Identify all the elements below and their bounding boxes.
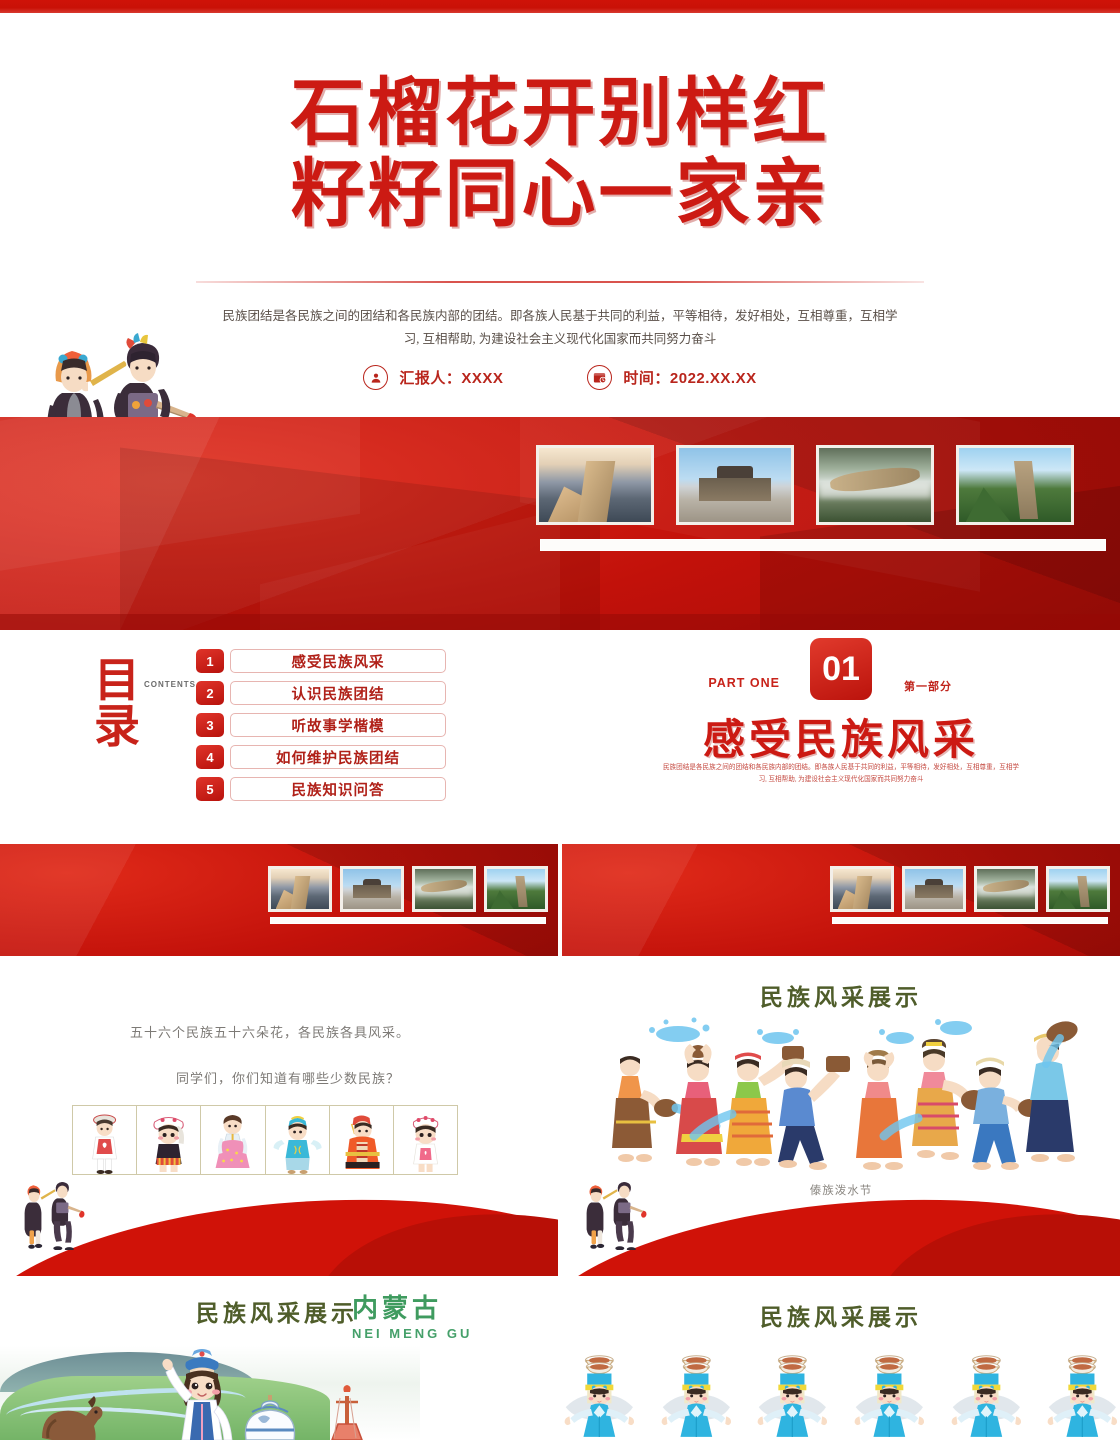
thumb-great-wall-green[interactable] — [956, 445, 1074, 525]
toc-item-3[interactable]: 3 听故事学楷模 — [196, 713, 446, 737]
toc-number: 3 — [196, 713, 224, 737]
ethnic-intro-line2: 同学们，你们知道有哪些少数民族？ — [176, 1068, 400, 1087]
doll-cell-2[interactable] — [137, 1106, 201, 1174]
presenter-label: 汇报人：XXXX — [399, 367, 503, 388]
toc-number: 2 — [196, 681, 224, 705]
dancer-6 — [1045, 1348, 1120, 1440]
cover-title-line2: 籽籽同心一家亲 — [0, 156, 1120, 233]
thumb-great-wall-mist[interactable] — [816, 445, 934, 525]
slide-row-4: 民族风采展示 — [0, 1280, 1120, 1440]
dance-heading: 民族风采展示 — [562, 1298, 1120, 1332]
part-cn-label: 第一部分 — [904, 678, 1024, 694]
doll-cell-5[interactable] — [330, 1106, 394, 1174]
thumb-great-wall-mist[interactable] — [974, 866, 1038, 912]
part-wall-thumbnails — [830, 866, 1110, 912]
slide-part-one[interactable]: 01 PART ONE 第一部分 感受民族风采 民族团结是各民族之间的团结和各民… — [562, 636, 1120, 956]
toc-heading-en: CONTENTS — [144, 680, 170, 691]
doll-cell-6[interactable] — [394, 1106, 457, 1174]
date-meta: 时间：2022.XX.XX — [587, 365, 756, 390]
inner-mongolia-illustration — [0, 1346, 420, 1440]
dancer-3 — [755, 1348, 830, 1440]
toc-list: 1 感受民族风采 2 认识民族团结 3 听故事学楷模 4 如何维护民族团结 5 — [196, 649, 446, 809]
toc-item-2[interactable]: 2 认识民族团结 — [196, 681, 446, 705]
cover-wall-thumbnails — [536, 445, 1074, 525]
part-red-banner — [562, 844, 1120, 956]
slide-inner-mongolia[interactable]: 民族风采展示 — [0, 1280, 558, 1440]
part-number-badge: 01 — [810, 638, 872, 700]
slide-water-festival[interactable]: 民族风采展示 — [562, 960, 1120, 1276]
mini-ethnic-musicians-icon — [578, 1168, 648, 1250]
toc-item-label: 听故事学楷模 — [230, 713, 446, 737]
part-en-label: PART ONE — [650, 676, 780, 690]
toc-item-label: 感受民族风采 — [230, 649, 446, 673]
date-label: 时间：2022.XX.XX — [623, 367, 756, 388]
thumb-great-wall-gate[interactable] — [676, 445, 794, 525]
toc-number: 5 — [196, 777, 224, 801]
mongolia-region-en: NEI MENG GU — [352, 1326, 532, 1341]
dancer-1 — [562, 1348, 637, 1440]
slide-row-3: 五十六个民族五十六朵花，各民族各具风采。 同学们，你们知道有哪些少数民族？ — [0, 960, 1120, 1276]
slide-ethnic-intro[interactable]: 五十六个民族五十六朵花，各民族各具风采。 同学们，你们知道有哪些少数民族？ — [0, 960, 558, 1276]
doll-cell-1[interactable] — [73, 1106, 137, 1174]
thumb-great-wall-mist[interactable] — [412, 866, 476, 912]
thumb-great-wall-green[interactable] — [1046, 866, 1110, 912]
toc-item-4[interactable]: 4 如何维护民族团结 — [196, 745, 446, 769]
cover-red-banner — [0, 417, 1120, 630]
slide-row-2: 目录 CONTENTS 1 感受民族风采 2 认识民族团结 3 听故事学楷模 4… — [0, 636, 1120, 956]
thumb-great-wall-snow[interactable] — [268, 866, 332, 912]
person-icon — [363, 365, 388, 390]
toc-number: 4 — [196, 745, 224, 769]
doll-cell-3[interactable] — [201, 1106, 265, 1174]
toc-number: 1 — [196, 649, 224, 673]
toc-item-label: 民族知识问答 — [230, 777, 446, 801]
thumb-great-wall-green[interactable] — [484, 866, 548, 912]
part-white-bar — [832, 917, 1108, 924]
doll-cell-4[interactable] — [266, 1106, 330, 1174]
cover-divider — [196, 281, 924, 283]
thumb-great-wall-snow[interactable] — [830, 866, 894, 912]
toc-item-label: 认识民族团结 — [230, 681, 446, 705]
slide-cover[interactable]: 石榴花开别样红 籽籽同心一家亲 民族团结是各民族之间的团结和各民族内部的团结。即… — [0, 13, 1120, 630]
toc-white-bar — [270, 917, 546, 924]
toc-item-5[interactable]: 5 民族知识问答 — [196, 777, 446, 801]
thumb-great-wall-gate[interactable] — [902, 866, 966, 912]
toc-wall-thumbnails — [268, 866, 548, 912]
part-title: 感受民族风采 — [562, 706, 1120, 767]
part-description: 民族团结是各民族之间的团结和各民族内部的团结。即各族人民基于共同的利益，平等相待… — [662, 762, 1020, 786]
dai-water-splashing-illustration — [582, 1008, 1100, 1178]
water-festival-heading: 民族风采展示 — [562, 978, 1120, 1012]
mongolia-region-label: 内蒙古 NEI MENG GU — [352, 1288, 532, 1341]
calendar-clock-icon — [587, 365, 612, 390]
top-red-strip — [0, 0, 1120, 13]
thumb-great-wall-snow[interactable] — [536, 445, 654, 525]
dancer-4 — [852, 1348, 927, 1440]
slide-bowl-dance[interactable]: 民族风采展示 — [562, 1280, 1120, 1440]
toc-red-banner — [0, 844, 558, 956]
ethnic-intro-line1: 五十六个民族五十六朵花，各民族各具风采。 — [130, 1022, 410, 1041]
dancer-5 — [949, 1348, 1024, 1440]
cover-title-line1: 石榴花开别样红 — [291, 71, 830, 154]
toc-item-label: 如何维护民族团结 — [230, 745, 446, 769]
dancer-2 — [659, 1348, 734, 1440]
thumb-great-wall-gate[interactable] — [340, 866, 404, 912]
mongolia-region-cn: 内蒙古 — [352, 1288, 532, 1325]
mongolian-bowl-dance-row — [562, 1352, 1120, 1440]
cover-description: 民族团结是各民族之间的团结和各民族内部的团结。即各族人民基于共同的利益，平等相待… — [215, 305, 905, 351]
toc-item-1[interactable]: 1 感受民族风采 — [196, 649, 446, 673]
presenter-meta: 汇报人：XXXX — [363, 365, 503, 390]
toc-heading-cn: 目录 — [94, 658, 174, 750]
slide-table-of-contents[interactable]: 目录 CONTENTS 1 感受民族风采 2 认识民族团结 3 听故事学楷模 4… — [0, 636, 558, 956]
presentation-thumbnail-sheet: 石榴花开别样红 籽籽同心一家亲 民族团结是各民族之间的团结和各民族内部的团结。即… — [0, 0, 1120, 1440]
cover-white-bar — [540, 539, 1106, 551]
ethnic-doll-grid — [72, 1105, 458, 1175]
mini-ethnic-musicians-icon — [16, 1168, 86, 1250]
cover-title: 石榴花开别样红 籽籽同心一家亲 — [0, 75, 1120, 233]
